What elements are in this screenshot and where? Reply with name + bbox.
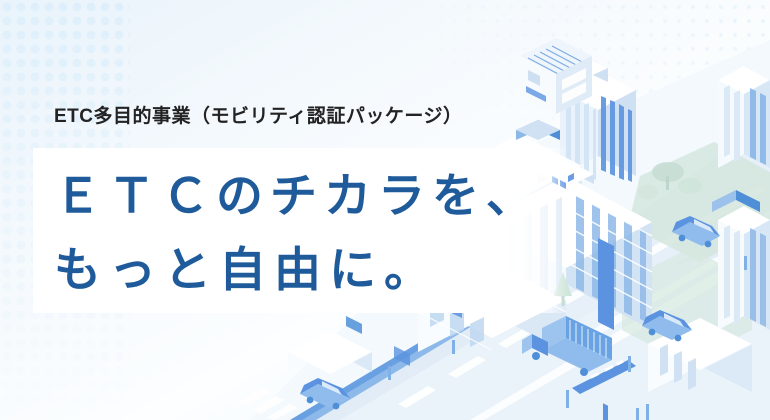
- hero-headline: ＥＴＣのチカラを、 もっと自由に。: [54, 159, 540, 307]
- car-sedan: [642, 310, 692, 341]
- building-right-a: [718, 66, 770, 168]
- house-roof: [520, 38, 592, 114]
- truck: [522, 316, 612, 376]
- hero-headline-line-2: もっと自由に。: [54, 233, 540, 307]
- roadside-structures: [288, 316, 410, 374]
- building-tall: [560, 58, 636, 420]
- crosswalk: [238, 388, 298, 420]
- hero-eyebrow: ETC多目的事業（モビリティ認証パッケージ）: [54, 101, 462, 128]
- building-right-c: [648, 318, 752, 392]
- tree-group: [554, 162, 702, 306]
- hero-banner: ETC多目的事業（モビリティ認証パッケージ） ＥＴＣのチカラを、 もっと自由に。: [0, 0, 770, 420]
- hero-headline-line-1: ＥＴＣのチカラを、: [54, 159, 540, 233]
- car-wagon: [672, 216, 720, 247]
- car-bottom: [300, 378, 350, 409]
- building-right-b: [712, 190, 770, 330]
